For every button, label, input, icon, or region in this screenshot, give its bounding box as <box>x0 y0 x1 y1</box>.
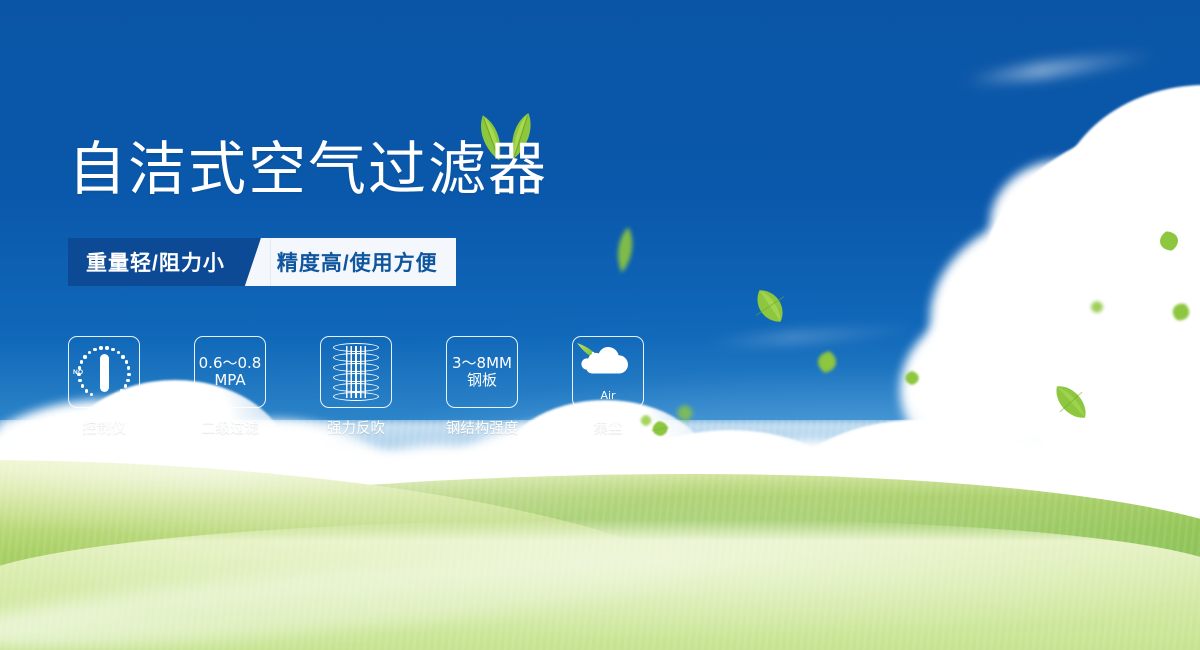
coil-ring <box>333 383 379 392</box>
cloud-right-puff-b <box>990 160 1140 290</box>
floating-leaf-9 <box>672 404 698 422</box>
dial-tick-dot <box>126 379 129 382</box>
dial-tick-dot <box>90 393 93 396</box>
floating-leaf-6 <box>1152 230 1186 252</box>
air-label: Air <box>575 389 641 402</box>
dial-tick-dot <box>120 389 123 392</box>
dial-needle <box>100 354 109 392</box>
feature-label: 强力反吹 <box>320 417 392 438</box>
grass-field <box>0 420 1200 650</box>
feature-item-steel-strength[interactable]: 3〜8MM 钢板 钢结构强度 <box>446 336 518 438</box>
feature-item-two-stage-filter[interactable]: 0.6〜0.8 MPA 二级过滤 <box>194 336 266 438</box>
feature-icon-box: NO OFF <box>68 336 140 408</box>
dial-tick-dot <box>78 366 81 369</box>
dial-tick-dot <box>77 373 80 376</box>
product-banner: 自洁式空气过滤器 重量轻/阻力小 精度高/使用方便 NO OFF 控制仪 0.6… <box>0 0 1200 650</box>
dial-tick-dot <box>125 360 128 363</box>
dial-tick-dot <box>81 384 84 387</box>
dial-gauge-icon: NO OFF <box>73 343 135 401</box>
pressure-text-icon: 0.6〜0.8 MPA <box>199 355 262 390</box>
tagline-divider <box>245 238 271 286</box>
coil-blowback-icon <box>333 343 379 401</box>
dial-tick-dot <box>124 384 127 387</box>
steel-plate-text-icon: 3〜8MM 钢板 <box>452 355 512 390</box>
feature-list: NO OFF 控制仪 0.6〜0.8 MPA 二级过滤 <box>68 336 644 438</box>
dial-tick-dot <box>117 351 120 354</box>
dial-tick-dot <box>78 379 81 382</box>
coil-ring <box>333 392 379 401</box>
feature-item-controller[interactable]: NO OFF 控制仪 <box>68 336 140 438</box>
dial-tick-dot <box>88 351 91 354</box>
tagline-right: 精度高/使用方便 <box>271 238 456 286</box>
page-title: 自洁式空气过滤器 <box>68 140 548 198</box>
feature-icon-box <box>320 336 392 408</box>
feature-label: 集尘 <box>572 417 644 438</box>
dial-tick-dot <box>115 393 118 396</box>
coil-ring <box>333 373 379 382</box>
feature-icon-box: Air <box>572 336 644 408</box>
floating-leaf-7 <box>1166 302 1196 322</box>
coil-ring <box>333 363 379 372</box>
floating-leaf-3 <box>810 350 844 374</box>
dial-tick-dot <box>127 373 130 376</box>
coil-ring <box>333 343 379 352</box>
feature-item-blowback[interactable]: 强力反吹 <box>320 336 392 438</box>
dial-tick-dot <box>111 348 114 351</box>
cloud-air-icon: Air <box>575 342 641 402</box>
feature-label: 控制仪 <box>68 417 140 438</box>
dial-tick-dot <box>93 348 96 351</box>
feature-icon-box: 3〜8MM 钢板 <box>446 336 518 408</box>
feature-label: 钢结构强度 <box>432 417 532 438</box>
dial-tick-dot <box>83 355 86 358</box>
dial-tick-dot <box>127 366 130 369</box>
feature-item-dust-collection[interactable]: Air 集尘 <box>572 336 644 438</box>
floating-leaf-5 <box>1046 380 1096 424</box>
dial-tick-dot <box>121 355 124 358</box>
floating-leaf-4 <box>900 370 924 386</box>
floating-leaf-8 <box>1086 300 1108 314</box>
grass-sheen <box>0 420 1200 650</box>
cloud-air-glyph <box>575 342 641 392</box>
feature-label: 二级过滤 <box>194 417 266 438</box>
dial-tick-dot <box>99 346 102 349</box>
floating-leaf-2 <box>744 286 796 326</box>
coil-ring <box>333 353 379 362</box>
tagline-left: 重量轻/阻力小 <box>68 238 245 286</box>
dial-tick-dot <box>85 389 88 392</box>
leaf-near-dust-label <box>646 420 674 437</box>
floating-leaf-1 <box>612 226 638 274</box>
dial-tick-dot <box>105 346 108 349</box>
feature-icon-box: 0.6〜0.8 MPA <box>194 336 266 408</box>
dial-tick-dot <box>80 360 83 363</box>
tagline-bar: 重量轻/阻力小 精度高/使用方便 <box>68 238 456 286</box>
